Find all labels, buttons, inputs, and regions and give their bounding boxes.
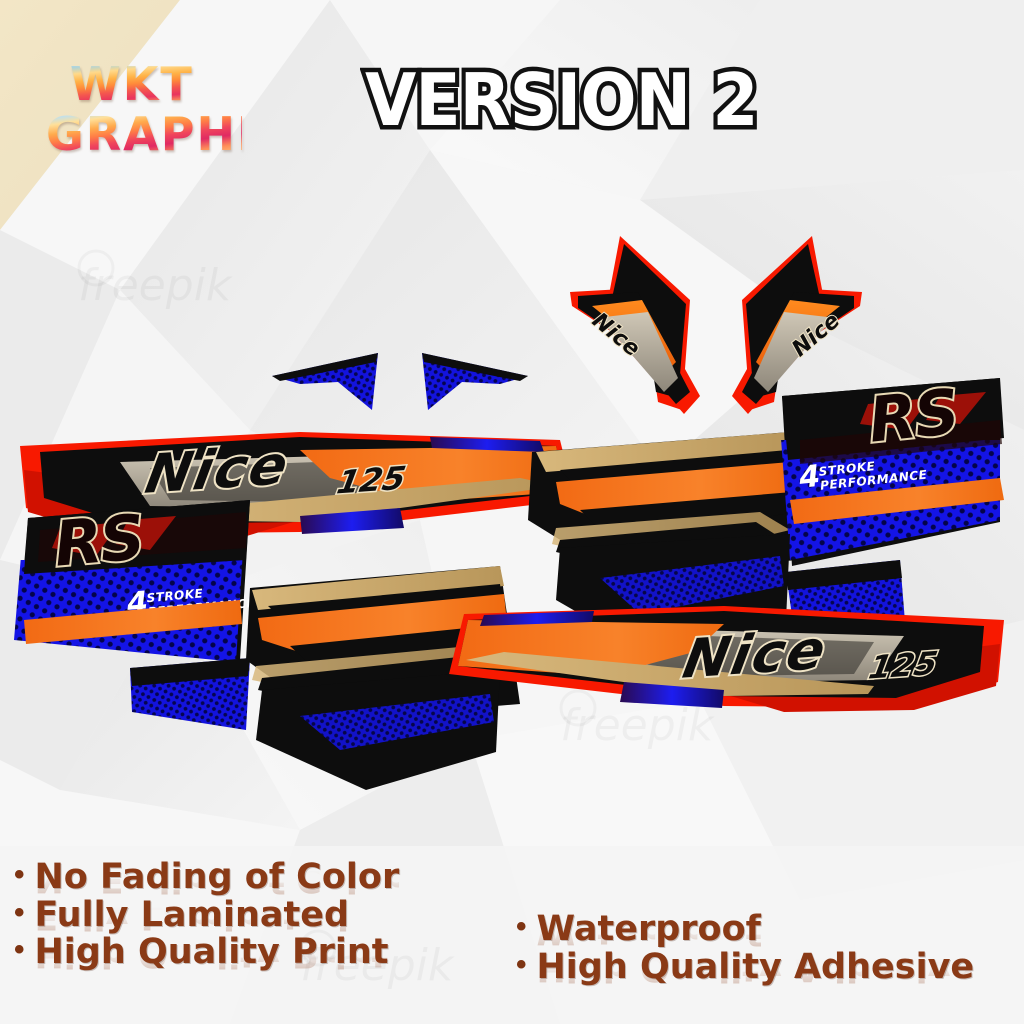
feature-label: Waterproof	[537, 912, 761, 948]
decal-body-right: Nice 125	[449, 606, 1004, 712]
decal-label-125-left: 125	[334, 459, 408, 501]
feature-column-left: • No Fading of Color • Fully Laminated •…	[14, 860, 399, 973]
bullet-icon: •	[14, 860, 25, 890]
bullet-icon: •	[516, 912, 527, 942]
feature-item: • No Fading of Color	[14, 860, 399, 896]
page-title-text: VERSION 2	[365, 58, 757, 142]
feature-label: No Fading of Color	[35, 860, 400, 896]
feature-label: High Quality Adhesive	[537, 950, 975, 986]
bullet-icon: •	[14, 898, 25, 928]
decal-blue-wings	[272, 353, 528, 410]
poster-canvas: Nice 125 RS	[0, 0, 1024, 1024]
feature-column-right: • Waterproof • High Quality Adhesive	[516, 912, 974, 987]
feature-item: • High Quality Print	[14, 935, 399, 971]
feature-label: High Quality Print	[35, 935, 389, 971]
bullet-icon: •	[14, 935, 25, 965]
decal-mid-left-lower	[246, 566, 520, 790]
brand-logo-line2: GRAPHIX	[46, 111, 242, 157]
decal-cowl-right: Nice	[732, 236, 862, 414]
brand-logo-line1: WKT	[70, 61, 242, 107]
bullet-icon: •	[516, 950, 527, 980]
feature-item: • Fully Laminated	[14, 898, 399, 934]
feature-list: • No Fading of Color • Fully Laminated •…	[0, 856, 1024, 1024]
decal-tail-lower-left: RS 4 STROKE PERFORMANCE	[10, 500, 260, 730]
decal-cowl-left: Nice	[570, 236, 700, 414]
feature-label: Fully Laminated	[35, 898, 350, 934]
page-title: VERSION 2	[365, 58, 757, 142]
decal-label-rs-lower: RS	[51, 500, 145, 580]
feature-item: • Waterproof	[516, 912, 974, 948]
feature-item: • High Quality Adhesive	[516, 950, 974, 986]
decal-label-125-right: 125	[866, 645, 940, 687]
decal-label-rs-upper: RS	[865, 375, 961, 457]
decal-label-nice-right: Nice	[678, 618, 832, 691]
decal-label-nice-left: Nice	[141, 433, 295, 506]
brand-logo: WKT GRAPHIX	[52, 44, 242, 174]
decal-tail-upper-right: RS 4 STROKE PERFORMANCE	[770, 375, 1020, 634]
